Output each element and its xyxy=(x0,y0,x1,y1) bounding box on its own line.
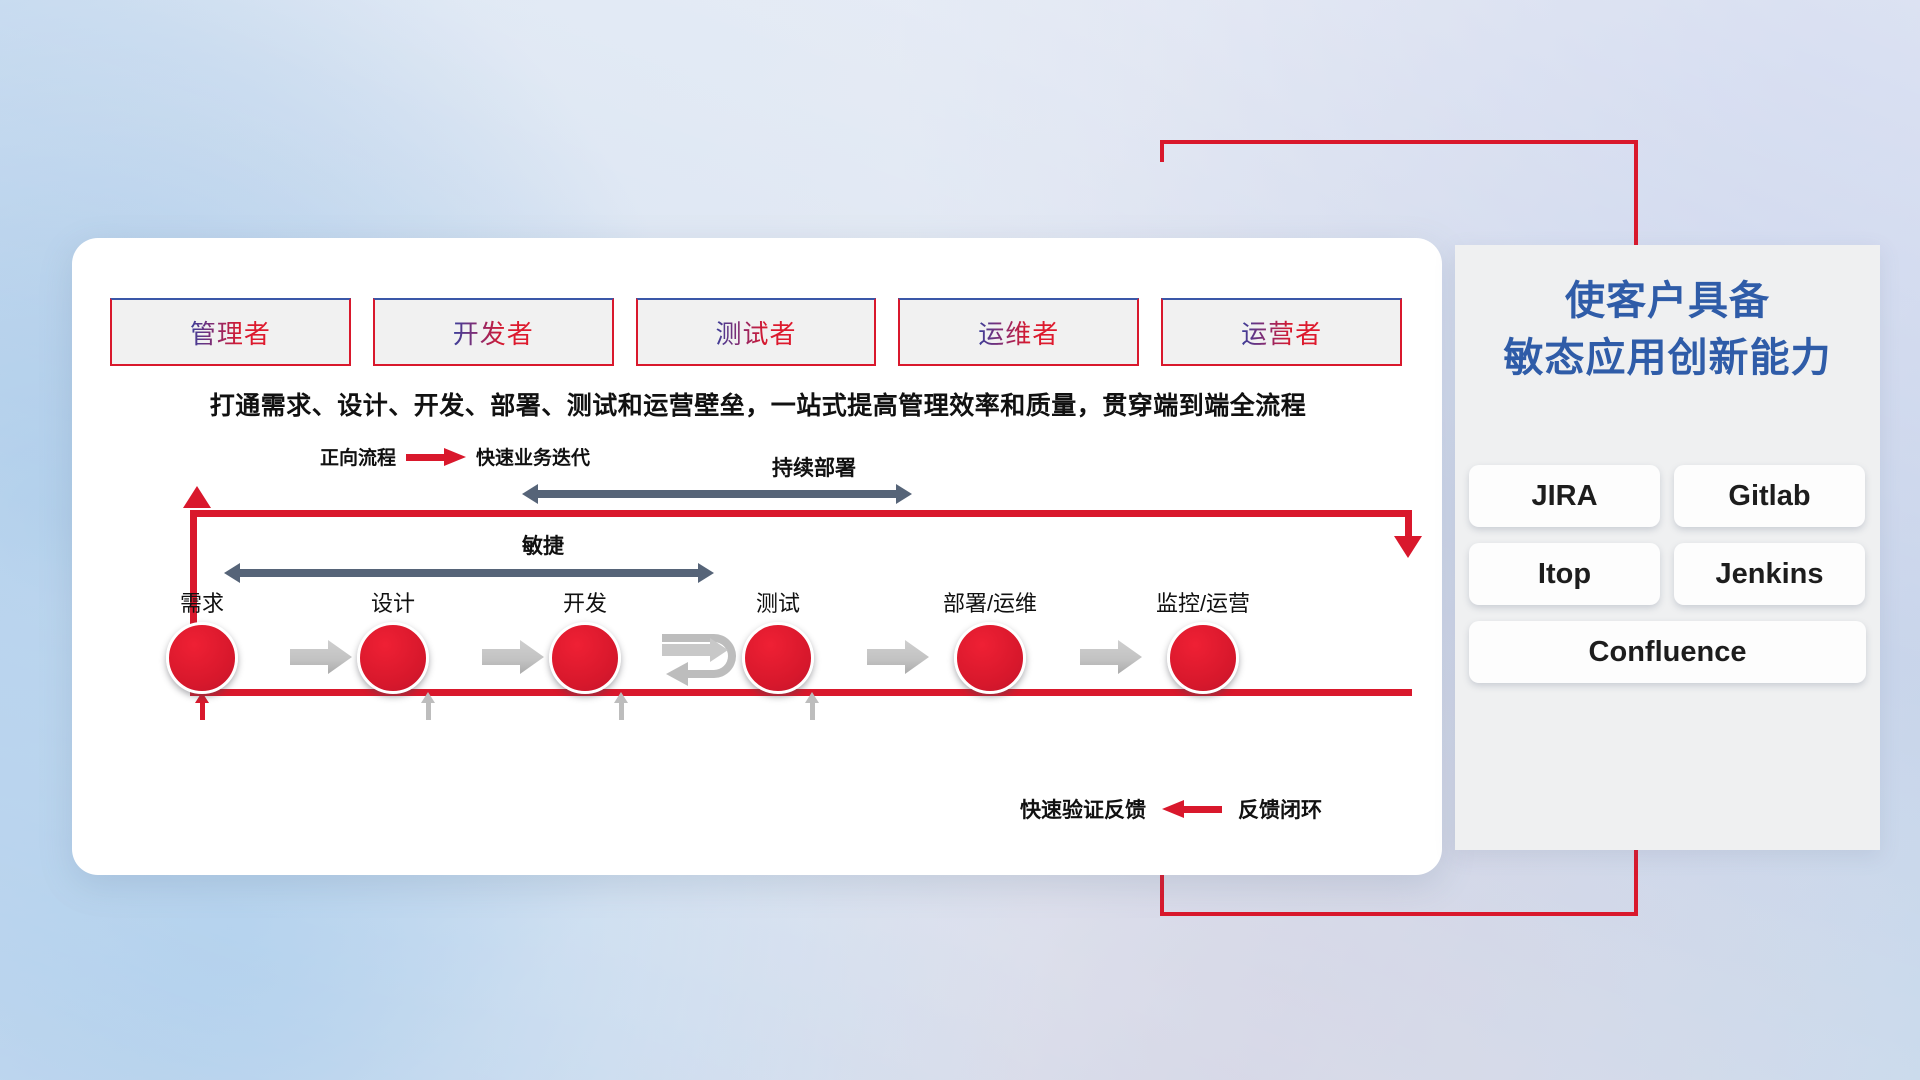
pipeline-node-deploy-ops[interactable]: 部署/运维 xyxy=(944,622,1036,694)
feedback-result-label: 快速验证反馈 xyxy=(1020,794,1146,824)
phase-label-continuous-deploy: 持续部署 xyxy=(772,452,856,482)
role-box-manager[interactable]: 管理者 xyxy=(110,298,351,366)
forward-flow-legend: 正向流程 快速业务迭代 xyxy=(320,443,590,470)
continuous-deploy-arrow-icon xyxy=(522,484,912,504)
pipeline-node-design[interactable]: 设计 xyxy=(347,622,439,694)
node-label: 部署/运维 xyxy=(943,586,1037,618)
tool-chip-label: Jenkins xyxy=(1716,558,1824,591)
pipeline-node-test[interactable]: 测试 xyxy=(732,622,824,694)
tool-chip-jira[interactable]: JIRA xyxy=(1469,465,1660,527)
role-label: 开发者 xyxy=(453,314,534,351)
tool-chip-gitlab[interactable]: Gitlab xyxy=(1674,465,1865,527)
role-label: 运营者 xyxy=(1241,314,1322,351)
pipeline-row: 需求 设计 开发 xyxy=(132,598,1432,718)
role-label: 运维者 xyxy=(978,314,1059,351)
chevron-right-icon xyxy=(482,640,544,674)
chevron-right-icon xyxy=(290,640,352,674)
arrow-right-red-icon xyxy=(406,448,466,466)
role-box-tester[interactable]: 测试者 xyxy=(636,298,877,366)
tool-chip-jenkins[interactable]: Jenkins xyxy=(1674,543,1865,605)
role-label: 测试者 xyxy=(715,314,796,351)
node-label: 测试 xyxy=(756,586,800,618)
feedback-legend: 快速验证反馈 反馈闭环 xyxy=(1020,794,1322,824)
node-label: 需求 xyxy=(180,586,224,618)
role-box-ops[interactable]: 运维者 xyxy=(898,298,1139,366)
node-circle xyxy=(1167,622,1239,694)
node-circle xyxy=(954,622,1026,694)
node-label: 监控/运营 xyxy=(1156,586,1250,618)
chevron-right-icon xyxy=(1080,640,1142,674)
role-box-row: 管理者 开发者 测试者 运维者 运营者 xyxy=(110,298,1402,366)
tool-chip-itop[interactable]: Itop xyxy=(1469,543,1660,605)
tick-test-icon xyxy=(805,692,819,718)
tick-develop-icon xyxy=(614,692,628,718)
node-label: 设计 xyxy=(371,586,415,618)
tool-chip-label: Itop xyxy=(1538,558,1591,591)
pipeline-node-develop[interactable]: 开发 xyxy=(539,622,631,694)
tool-chip-list: JIRA Gitlab Itop Jenkins Confluence xyxy=(1469,465,1866,683)
tick-design-icon xyxy=(421,692,435,718)
role-box-developer[interactable]: 开发者 xyxy=(373,298,614,366)
role-label: 管理者 xyxy=(190,314,271,351)
tools-panel-title-line1: 使客户具备 xyxy=(1455,273,1880,330)
node-circle xyxy=(549,622,621,694)
node-circle xyxy=(357,622,429,694)
tools-panel-title: 使客户具备 敏态应用创新能力 xyxy=(1455,273,1880,387)
pipeline-node-requirement[interactable]: 需求 xyxy=(156,622,248,694)
forward-flow-label: 正向流程 xyxy=(320,443,396,470)
tools-panel: 使客户具备 敏态应用创新能力 JIRA Gitlab Itop Jenkins … xyxy=(1455,245,1880,850)
node-circle xyxy=(742,622,814,694)
arrow-left-red-icon xyxy=(1162,800,1222,818)
feedback-loop-label: 反馈闭环 xyxy=(1238,794,1322,824)
node-label: 开发 xyxy=(563,586,607,618)
node-circle xyxy=(166,622,238,694)
tool-chip-label: Gitlab xyxy=(1728,480,1810,513)
tool-chip-label: Confluence xyxy=(1589,636,1747,669)
forward-flow-result: 快速业务迭代 xyxy=(476,443,590,470)
tick-requirement-icon xyxy=(195,692,209,718)
pipeline-node-monitor-operations[interactable]: 监控/运营 xyxy=(1157,622,1249,694)
chevron-right-icon xyxy=(867,640,929,674)
main-diagram-card: 管理者 开发者 测试者 运维者 运营者 打通需求、设计、开发、部署、测试和运营壁… xyxy=(72,238,1442,875)
description-text: 打通需求、设计、开发、部署、测试和运营壁垒，一站式提高管理效率和质量，贯穿端到端… xyxy=(112,386,1404,422)
role-box-operations[interactable]: 运营者 xyxy=(1161,298,1402,366)
tool-chip-label: JIRA xyxy=(1531,480,1597,513)
tools-panel-title-line2: 敏态应用创新能力 xyxy=(1455,330,1880,387)
tool-chip-confluence[interactable]: Confluence xyxy=(1469,621,1866,683)
